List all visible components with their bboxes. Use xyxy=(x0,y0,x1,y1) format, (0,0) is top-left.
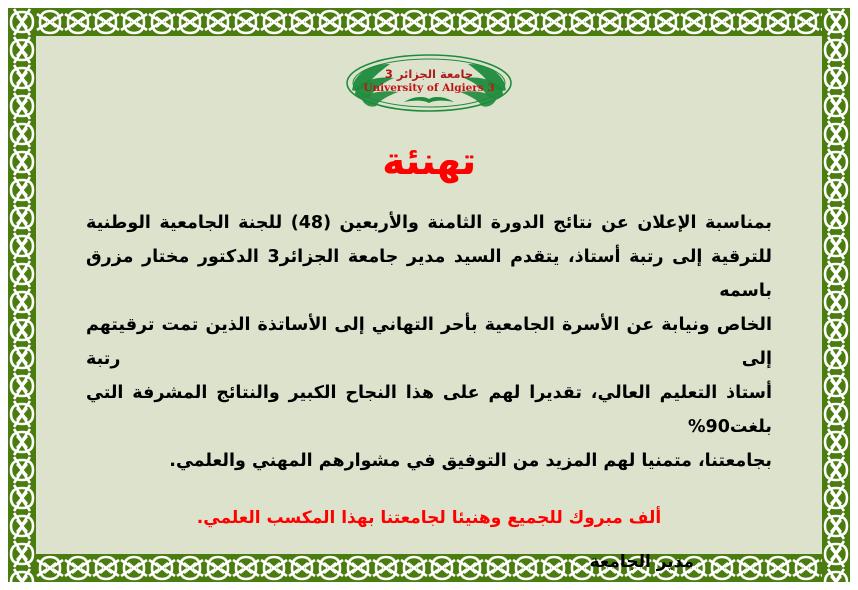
body-line-5: بجامعتنا، متمنيا لهم المزيد من التوفيق ف… xyxy=(86,444,772,478)
page-title: تهنئة xyxy=(74,142,784,180)
certificate-content: جامعة الجزائر 3 University of Algiers 3 … xyxy=(36,36,822,554)
certificate-page: جامعة الجزائر 3 University of Algiers 3 … xyxy=(0,0,858,590)
border-knot-top xyxy=(8,8,850,36)
congratulation-line: ألف مبروك للجميع وهنيئا لجامعتنا بهذا ال… xyxy=(74,508,784,528)
border-knot-left xyxy=(8,8,36,582)
body-line-4: أستاذ التعليم العالي، تقديرا لهم على هذا… xyxy=(86,376,772,444)
logo-arabic-name: جامعة الجزائر 3 xyxy=(385,67,473,81)
body-line-2: للترقية إلى رتبة أستاذ، يتقدم السيد مدير… xyxy=(86,240,772,308)
logo-english-name: University of Algiers 3 xyxy=(363,82,494,94)
announcement-body: بمناسبة الإعلان عن نتائج الدورة الثامنة … xyxy=(74,206,784,478)
university-logo: جامعة الجزائر 3 University of Algiers 3 xyxy=(344,52,514,114)
body-line-1: بمناسبة الإعلان عن نتائج الدورة الثامنة … xyxy=(86,206,772,240)
border-knot-right xyxy=(822,8,850,582)
signature-title: مدير الجامعة xyxy=(590,552,695,572)
body-line-3: الخاص ونيابة عن الأسرة الجامعية بأحر الت… xyxy=(86,308,772,376)
signature-block: مدير الجامعة xyxy=(74,552,784,572)
